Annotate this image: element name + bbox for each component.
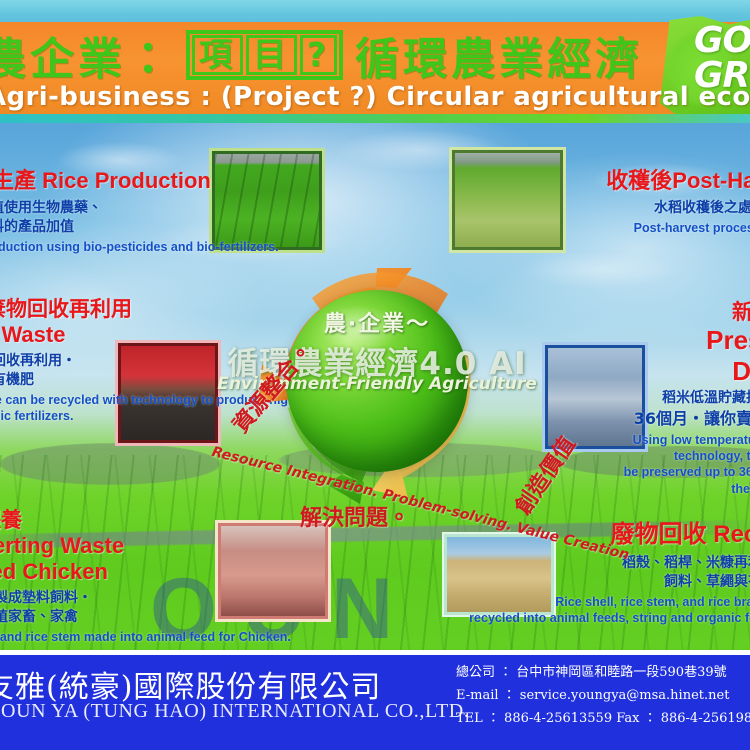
section-preserve-during-body-en-1: Using low temperature storage: [624, 432, 750, 448]
go-green-line-1: GO: [694, 24, 750, 59]
section-rice-production-body-en-1: Rice production using bio-pesticides and…: [0, 239, 279, 255]
section-preserve-during-body-zh-1: 稻米低溫貯藏技術可保存: [624, 389, 750, 408]
section-post-harvest-body-zh-1: 水稻收穫後之處理・乾燥: [606, 199, 750, 218]
section-preserve-during: 新鮮保存 Preserve During 稻米低溫貯藏技術可保存 36個月・讓你…: [624, 300, 750, 497]
section-rice-production-title: 水稻生產 Rice Production: [0, 168, 279, 194]
header-boxed-char-3: ?: [300, 35, 337, 75]
section-rice-production-title-en: Rice Production: [42, 168, 211, 193]
header-boxed-char-1: 項: [192, 35, 243, 75]
section-preserve-during-title-en-1: Preserve: [624, 325, 750, 356]
section-recycle-body-en-2: recycled into animal feeds, string and o…: [469, 610, 750, 626]
header-boxed-char-2: 目: [246, 35, 297, 75]
footer-contact-block: 總公司 ： 台中市神岡區和睦路一段590巷39號 E-mail ： servic…: [456, 662, 750, 730]
header-underline: [0, 114, 750, 123]
section-waste-to-feed-title-zh: 廢物餵養: [0, 508, 291, 532]
section-recycle: 廢物回收 Recycle 稻殼、稻桿、米糠再利用製成 飼料、草繩與有機肥料 Ri…: [469, 521, 750, 627]
header-boxed-group: 項 目 ?: [186, 30, 343, 80]
section-preserve-during-body-en-3: be preserved up to 36 months at: [624, 464, 750, 480]
header-title-zh-lead: 農企業：: [0, 23, 174, 87]
section-post-harvest-title: 收穫後Post-Harvest: [606, 168, 750, 194]
section-waste-to-feed-title-en-2: to Feed Chicken: [0, 559, 291, 585]
section-preserve-during-title-en-2: During: [624, 356, 750, 387]
section-rice-production-body-zh-2: 生物肥料的產品加值: [0, 218, 279, 237]
section-recycle-title-en: Recycle: [713, 521, 750, 548]
section-recycle-body-en-1: Rice shell, rice stem, and rice bran can…: [469, 594, 750, 610]
globe-shape: [286, 290, 468, 472]
section-post-harvest-body-en-1: Post-harvest process: Drying: [606, 220, 750, 236]
section-waste-to-feed-title-en-1: Converting Waste: [0, 533, 291, 559]
section-recycle-title-zh: 廢物回收: [611, 521, 707, 548]
section-rice-production-body-zh-1: 水稻種植使用生物農藥、: [0, 199, 279, 218]
footer-phone: TEL ： 886-4-25613559 Fax ： 886-4-2561980…: [456, 708, 750, 731]
footer-company-name-en: YOUN YA (TUNG HAO) INTERNATIONAL CO.,LTD…: [0, 700, 456, 723]
footer-email[interactable]: E-mail ： service.youngya@msa.hinet.net: [456, 685, 750, 708]
header-title-zh-tail: 循環農業經濟: [355, 23, 643, 87]
section-preserve-during-body-zh-2: 36個月・讓你賣到好價格: [624, 408, 750, 430]
section-recycle-body-zh-2: 飼料、草繩與有機肥料: [469, 573, 750, 592]
infographic-poster: OUN GO GR 農企業： 項 目 ? 循環農業經濟 Agri-busines…: [0, 0, 750, 750]
header-title-en: Agri-business : (Project ?) Circular agr…: [0, 82, 686, 112]
footer-address: 總公司 ： 台中市神岡區和睦路一段590巷39號: [456, 662, 750, 685]
section-post-harvest-title-en: Post-Harvest: [672, 168, 750, 193]
section-rice-production: 水稻生產 Rice Production 水稻種植使用生物農藥、 生物肥料的產品…: [0, 168, 279, 255]
section-waste-to-feed-body-zh-2: 可用於養殖家畜、家禽: [0, 608, 291, 627]
section-preserve-during-body-en-2: technology, the rice can: [624, 448, 750, 464]
header-title-zh: 農企業： 項 目 ? 循環農業經濟: [0, 26, 692, 84]
section-preserve-during-body-en-4: the best price.: [624, 481, 750, 497]
section-waste-to-feed-body-zh-1: 稻殼稻桿製成墊料飼料・: [0, 589, 291, 608]
section-rice-production-title-zh: 水稻生產: [0, 168, 36, 193]
section-post-harvest: 收穫後Post-Harvest 水稻收穫後之處理・乾燥 Post-harvest…: [606, 168, 750, 236]
section-preserve-during-title-zh: 新鮮保存: [624, 300, 750, 324]
section-post-harvest-title-zh: 收穫後: [606, 168, 672, 193]
photo-harvester: [452, 150, 563, 250]
section-waste-to-feed-body-en-1: Rice shell and rice stem made into anima…: [0, 629, 291, 645]
section-waste-to-feed: 廢物餵養 Converting Waste to Feed Chicken 稻殼…: [0, 508, 291, 645]
